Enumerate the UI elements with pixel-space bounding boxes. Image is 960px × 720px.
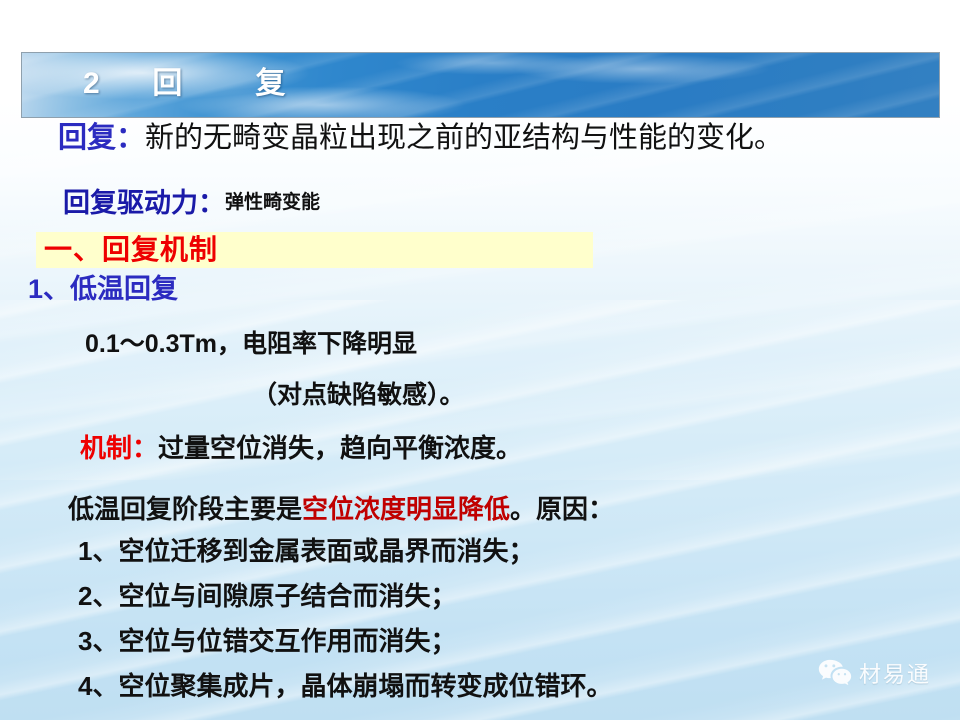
watermark-text: 材易通 bbox=[859, 657, 931, 689]
list-item-number: 2、 bbox=[78, 581, 118, 611]
mechanism-label: 机制： bbox=[80, 434, 158, 463]
list-item-label: 空位与位错交互作用而消失； bbox=[118, 627, 456, 656]
summary-suffix: 。原因： bbox=[510, 495, 614, 524]
list-item-number: 1、 bbox=[78, 536, 118, 566]
definition-line: 回复：新的无畸变晶粒出现之前的亚结构与性能的变化。 bbox=[58, 121, 783, 155]
watermark: 材易通 bbox=[818, 657, 931, 689]
definition-body: 新的无畸变晶粒出现之前的亚结构与性能的变化。 bbox=[145, 122, 783, 154]
definition-label: 回复： bbox=[58, 122, 145, 154]
list-item-number: 3、 bbox=[78, 626, 118, 656]
summary-prefix: 低温回复阶段主要是 bbox=[68, 495, 302, 524]
list-item-label: 空位聚集成片，晶体崩塌而转变成位错环。 bbox=[118, 672, 612, 701]
list-item-label: 空位迁移到金属表面或晶界而消失； bbox=[118, 537, 534, 566]
defect-sensitivity-line: （对点缺陷敏感）。 bbox=[252, 380, 465, 412]
banner-title-text: 2 回 复 bbox=[83, 64, 297, 104]
temperature-line: 0.1～0.3Tm，电阻率下降明显 bbox=[85, 328, 417, 361]
list-item: 2、空位与间隙原子结合而消失； bbox=[78, 580, 456, 613]
wechat-icon bbox=[818, 658, 852, 688]
list-item-number: 4、 bbox=[78, 671, 118, 701]
defect-sensitivity-text: （对点缺陷敏感）。 bbox=[252, 382, 465, 409]
mechanism-body: 过量空位消失，趋向平衡浓度。 bbox=[158, 434, 522, 463]
driving-force-line: 回复驱动力：弹性畸变能 bbox=[63, 186, 320, 220]
mechanism-line: 机制：过量空位消失，趋向平衡浓度。 bbox=[80, 433, 522, 465]
driving-force-label: 回复驱动力： bbox=[63, 188, 225, 218]
slide-canvas: 2 回 复 回复：新的无畸变晶粒出现之前的亚结构与性能的变化。 回复驱动力：弹性… bbox=[0, 0, 960, 720]
subsection-heading: 1、低温回复 bbox=[28, 273, 178, 305]
section-heading: 一、回复机制 bbox=[44, 232, 218, 268]
temperature-effect: 电阻率下降明显 bbox=[242, 331, 417, 358]
list-item: 1、空位迁移到金属表面或晶界而消失； bbox=[78, 535, 534, 568]
summary-line: 低温回复阶段主要是空位浓度明显降低。原因： bbox=[68, 494, 614, 526]
temperature-range: 0.1～0.3Tm， bbox=[85, 330, 242, 358]
list-item: 3、空位与位错交互作用而消失； bbox=[78, 625, 456, 658]
list-item-label: 空位与间隙原子结合而消失； bbox=[118, 582, 456, 611]
section-heading-text: 一、回复机制 bbox=[44, 234, 218, 265]
summary-emphasis: 空位浓度明显降低 bbox=[302, 495, 510, 524]
list-item: 4、空位聚集成片，晶体崩塌而转变成位错环。 bbox=[78, 670, 612, 703]
title-banner: 2 回 复 bbox=[21, 52, 940, 118]
driving-force-value: 弹性畸变能 bbox=[225, 192, 320, 213]
subsection-heading-text: 1、低温回复 bbox=[28, 274, 178, 304]
